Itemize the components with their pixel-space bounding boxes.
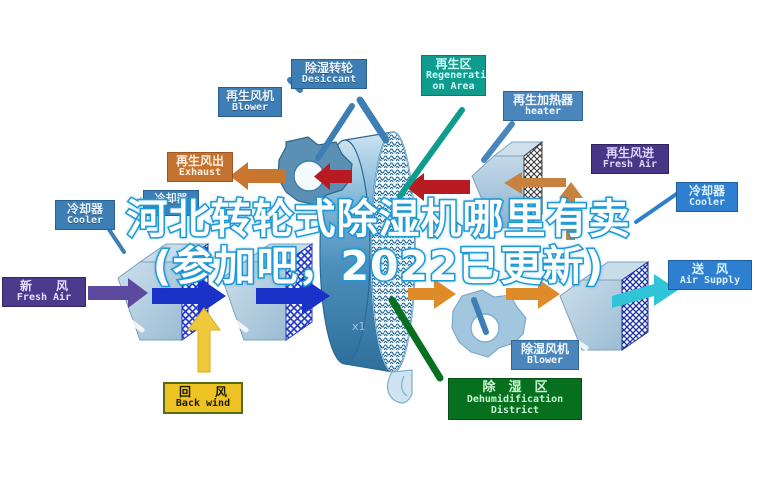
label-cooler-left-2: 冷却器	[143, 190, 199, 216]
label-regeneration-area: 再生区 Regenerati on Area	[421, 55, 486, 96]
drain-pan	[387, 370, 412, 403]
regen-air-up-arrow	[559, 182, 583, 240]
label-regeneration-heater: 再生加热器 heater	[503, 91, 583, 121]
label-regeneration-fresh-air: 再生风进 Fresh Air	[591, 144, 669, 174]
label-regeneration-exhaust: 再生风出 Exhaust	[167, 152, 233, 182]
label-dehumidification-district: 除 湿 区 Dehumidification District	[448, 378, 582, 420]
exhaust-arrow	[230, 162, 286, 190]
dehumidifier-schematic: x1	[0, 0, 757, 488]
label-fresh-air-inlet: 新 风 Fresh Air	[2, 277, 86, 307]
dry-air-arrow-1	[408, 279, 456, 309]
supply-mesh-block	[560, 262, 648, 350]
label-desiccant-rotor: 除湿转轮 Desiccant	[291, 59, 367, 89]
label-cooler-left-1: 冷却器 Cooler	[55, 200, 115, 230]
diagram-canvas: x1	[0, 0, 757, 488]
svg-text:x1: x1	[352, 320, 366, 333]
label-cooler-right: 冷却器 Cooler	[676, 182, 738, 212]
label-dehumidification-blower: 除湿风机 Blower	[511, 340, 579, 370]
label-air-supply: 送 风 Air Supply	[668, 260, 752, 290]
label-back-wind: 回 风 Back wind	[163, 382, 243, 414]
label-regeneration-blower: 再生风机 Blower	[218, 87, 282, 117]
